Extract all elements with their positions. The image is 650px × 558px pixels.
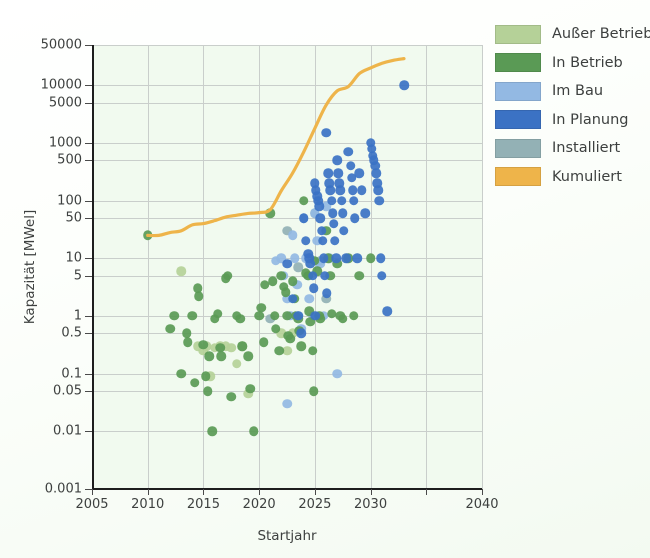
y-tick-mark xyxy=(85,45,92,46)
legend-label: In Betrieb xyxy=(552,55,623,71)
y-tick-label: 100 xyxy=(57,193,82,208)
y-tick-label: 10000 xyxy=(41,78,82,93)
x-tick-label: 2010 xyxy=(131,497,164,512)
x-axis-label: Startjahr xyxy=(92,528,482,544)
y-tick-label: 50 xyxy=(65,211,82,226)
y-axis-label-wrapper: Kapazität [MWel] xyxy=(6,45,30,489)
legend-swatch xyxy=(495,25,541,44)
legend-item[interactable]: Kumuliert xyxy=(495,163,645,192)
legend-swatch xyxy=(495,167,541,186)
x-tick-label: 2020 xyxy=(243,497,276,512)
x-tick-mark xyxy=(92,489,93,495)
y-tick-label: 0.01 xyxy=(53,424,82,439)
y-tick-mark xyxy=(85,333,92,334)
x-tick-mark xyxy=(259,489,260,495)
y-tick-mark xyxy=(85,374,92,375)
y-axis-label: Kapazität [MWel] xyxy=(22,187,38,347)
y-tick-mark xyxy=(85,276,92,277)
chart-figure: 5000010000500010005001005010510.50.10.05… xyxy=(0,0,650,558)
y-tick-label: 1 xyxy=(74,308,82,323)
x-tick-mark xyxy=(482,489,483,495)
x-tick-mark xyxy=(371,489,372,495)
legend-label: Außer Betrieb xyxy=(552,26,650,42)
x-tick-mark xyxy=(203,489,204,495)
x-tick-label: 2025 xyxy=(298,497,331,512)
y-tick-label: 0.5 xyxy=(61,326,82,341)
y-tick-label: 5 xyxy=(74,268,82,283)
y-tick-mark xyxy=(85,85,92,86)
x-tick-label: 2030 xyxy=(354,497,387,512)
y-tick-label: 10 xyxy=(65,251,82,266)
cumulative-line xyxy=(148,59,404,236)
chart-legend: Außer BetriebIn BetriebIm BauIn PlanungI… xyxy=(495,20,645,191)
plot-area xyxy=(92,45,482,489)
legend-item[interactable]: Außer Betrieb xyxy=(495,20,645,49)
legend-label: Kumuliert xyxy=(552,169,622,185)
legend-swatch xyxy=(495,110,541,129)
y-axis-spine xyxy=(92,45,94,490)
y-tick-label: 5000 xyxy=(49,95,82,110)
y-tick-mark xyxy=(85,201,92,202)
y-tick-label: 0.05 xyxy=(53,384,82,399)
x-tick-label: 2040 xyxy=(465,497,498,512)
legend-label: In Planung xyxy=(552,112,629,128)
y-tick-label: 0.001 xyxy=(45,482,82,497)
y-tick-mark xyxy=(85,316,92,317)
y-tick-mark xyxy=(85,218,92,219)
x-tick-mark xyxy=(315,489,316,495)
legend-label: Im Bau xyxy=(552,83,603,99)
y-tick-mark xyxy=(85,391,92,392)
y-tick-label: 500 xyxy=(57,153,82,168)
x-tick-label: 2015 xyxy=(187,497,220,512)
legend-swatch xyxy=(495,53,541,72)
x-tick-label: 2005 xyxy=(75,497,108,512)
legend-label: Installiert xyxy=(552,140,620,156)
legend-swatch xyxy=(495,82,541,101)
y-tick-mark xyxy=(85,143,92,144)
y-tick-label: 1000 xyxy=(49,135,82,150)
x-axis-spine xyxy=(92,488,482,490)
y-tick-mark xyxy=(85,431,92,432)
y-tick-label: 50000 xyxy=(41,38,82,53)
y-tick-mark xyxy=(85,258,92,259)
legend-item[interactable]: In Planung xyxy=(495,106,645,135)
legend-swatch xyxy=(495,139,541,158)
y-tick-mark xyxy=(85,489,92,490)
x-tick-mark xyxy=(426,489,427,495)
legend-item[interactable]: Installiert xyxy=(495,134,645,163)
cumulative-line-layer xyxy=(92,45,482,489)
y-tick-label: 0.1 xyxy=(61,366,82,381)
legend-item[interactable]: In Betrieb xyxy=(495,49,645,78)
gridline-x xyxy=(482,45,483,489)
legend-item[interactable]: Im Bau xyxy=(495,77,645,106)
x-tick-mark xyxy=(148,489,149,495)
y-tick-mark xyxy=(85,160,92,161)
y-tick-mark xyxy=(85,103,92,104)
